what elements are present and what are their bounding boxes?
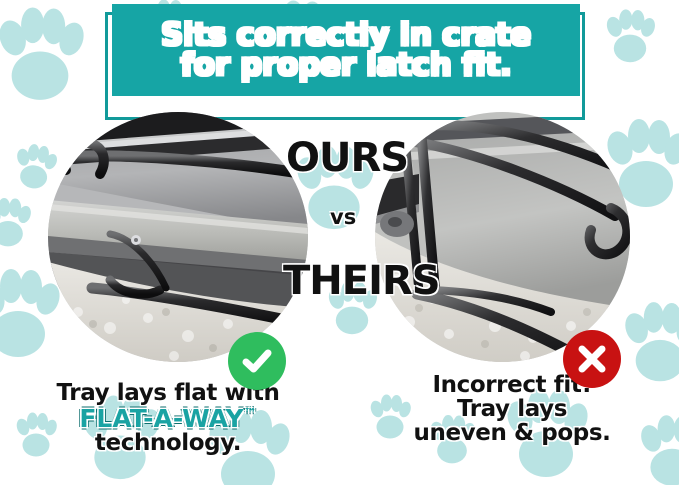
photo-ours-image bbox=[48, 112, 308, 362]
caption-ours-line3: technology. bbox=[8, 432, 328, 456]
header-title-line2: for proper latch fit. bbox=[161, 50, 531, 80]
caption-ours: Tray lays flat with FLAT-A-WAY™ technolo… bbox=[8, 382, 328, 456]
photo-ours bbox=[48, 112, 308, 362]
caption-theirs-line3: uneven & pops. bbox=[352, 422, 672, 446]
header-banner: Sits correctly in crate for proper latch… bbox=[112, 4, 580, 96]
label-theirs: THEIRS bbox=[283, 258, 440, 304]
brand-flat-a-way: FLAT-A-WAY™ bbox=[8, 406, 328, 432]
header-title: Sits correctly in crate for proper latch… bbox=[155, 20, 537, 81]
x-circle-icon bbox=[563, 330, 621, 388]
photo-theirs bbox=[375, 112, 630, 362]
label-ours: OURS bbox=[286, 135, 408, 181]
caption-theirs-line2: Tray lays bbox=[352, 398, 672, 422]
trademark-symbol: ™ bbox=[244, 407, 257, 422]
photo-theirs-image bbox=[375, 112, 630, 362]
brand-name: FLAT-A-WAY bbox=[79, 404, 243, 433]
caption-theirs-line1: Incorrect fit! bbox=[352, 374, 672, 398]
caption-ours-line1: Tray lays flat with bbox=[8, 382, 328, 406]
infographic-canvas: Sits correctly in crate for proper latch… bbox=[0, 0, 679, 485]
label-vs: vs bbox=[330, 205, 356, 229]
caption-theirs: Incorrect fit! Tray lays uneven & pops. bbox=[352, 374, 672, 446]
check-circle-icon bbox=[228, 332, 286, 390]
